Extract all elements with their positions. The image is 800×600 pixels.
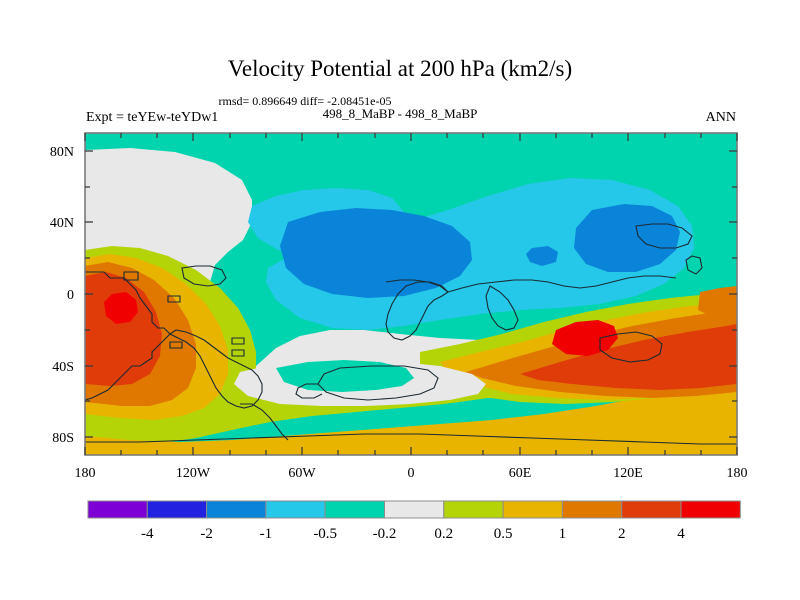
season-label: ANN: [706, 110, 736, 125]
colorbar-label-0: -4: [141, 526, 154, 542]
colorbar-cell-1: [147, 501, 206, 518]
x-tick-label-0: 0: [408, 466, 415, 481]
colorbar-label-3: -0.5: [313, 526, 337, 542]
colorbar-label-9: 4: [677, 526, 685, 542]
x-tick-label-180E: 180: [727, 466, 748, 481]
page-title: Velocity Potential at 200 hPa (km2/s): [228, 56, 572, 81]
x-tick-label-180W: 180: [75, 466, 96, 481]
y-tick-label-80N: 80N: [50, 145, 74, 160]
colorbar-label-6: 0.5: [494, 526, 513, 542]
x-tick-label-120W: 120W: [176, 466, 211, 481]
velocity-potential-figure: Velocity Potential at 200 hPa (km2/s) rm…: [0, 0, 800, 600]
x-tick-label-60E: 60E: [509, 466, 532, 481]
colorbar-cell-3: [266, 501, 325, 518]
colorbar-cell-5: [385, 501, 444, 518]
y-tick-label-40S: 40S: [52, 360, 74, 375]
y-tick-label-40N: 40N: [50, 216, 74, 231]
x-tick-label-60W: 60W: [288, 466, 316, 481]
map-plot-area: 80N 40N 0 40S 80S 180 120W 60W 0 60E 120…: [50, 133, 748, 481]
colorbar-cell-6: [444, 501, 503, 518]
colorbar-label-5: 0.2: [434, 526, 453, 542]
colorbar-cell-4: [325, 501, 384, 518]
colorbar-label-1: -2: [200, 526, 213, 542]
experiment-label: Expt = teYEw-teYDw1: [86, 110, 218, 125]
y-tick-label-80S: 80S: [52, 431, 74, 446]
colorbar-cell-9: [622, 501, 681, 518]
colorbar-cell-7: [503, 501, 562, 518]
colorbar-label-2: -1: [260, 526, 273, 542]
colorbar-cell-8: [562, 501, 621, 518]
case-line: 498_8_MaBP - 498_8_MaBP: [323, 106, 478, 121]
colorbar-label-8: 2: [618, 526, 626, 542]
colorbar-label-4: -0.2: [373, 526, 397, 542]
colorbar-label-7: 1: [559, 526, 567, 542]
colorbar-cell-0: [88, 501, 147, 518]
colorbar-cell-2: [207, 501, 266, 518]
x-tick-label-120E: 120E: [613, 466, 643, 481]
colorbar-cell-10: [681, 501, 740, 518]
contour-field: [85, 133, 737, 455]
y-tick-label-0: 0: [67, 288, 74, 303]
